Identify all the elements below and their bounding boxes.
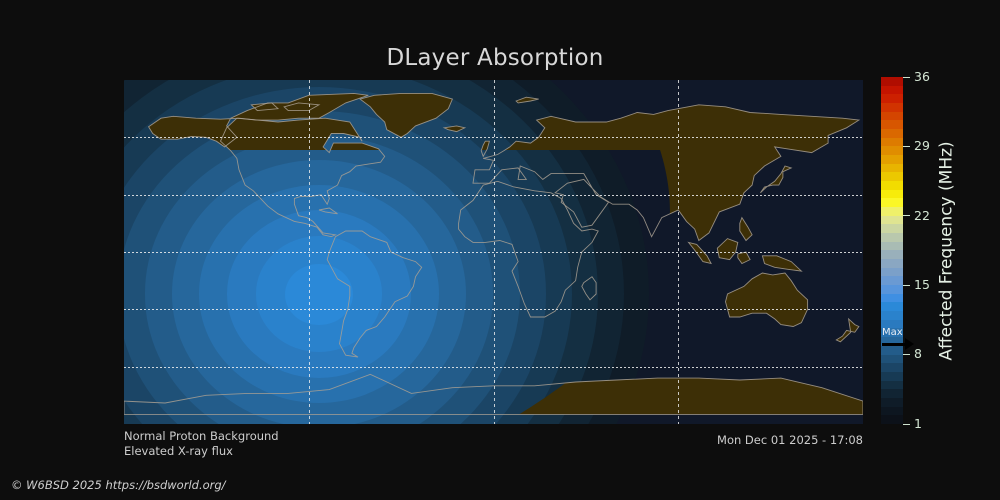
colorbar-band bbox=[881, 77, 903, 86]
colorbar-axis-title: Affected Frequency (MHz) bbox=[935, 77, 959, 424]
colorbar-band bbox=[881, 276, 903, 285]
colorbar-band bbox=[881, 407, 903, 416]
colorbar-band bbox=[881, 224, 903, 233]
colorbar[interactable] bbox=[881, 77, 903, 424]
colorbar-band bbox=[881, 103, 903, 112]
page-title: DLayer Absorption bbox=[0, 45, 990, 71]
gridline-latitude bbox=[124, 309, 863, 310]
colorbar-band bbox=[881, 250, 903, 259]
footer-credit-text: W6BSD 2025 https://bsdworld.org/ bbox=[26, 478, 225, 492]
gridline-latitude bbox=[124, 137, 863, 138]
colorbar-band bbox=[881, 120, 903, 129]
gridline-layer bbox=[124, 80, 863, 424]
colorbar-band bbox=[881, 259, 903, 268]
colorbar-band bbox=[881, 311, 903, 320]
colorbar-tick-dash bbox=[903, 146, 910, 147]
colorbar-band bbox=[881, 268, 903, 277]
colorbar-band bbox=[881, 198, 903, 207]
colorbar-axis-title-text: Affected Frequency (MHz) bbox=[937, 141, 957, 360]
colorbar-band bbox=[881, 294, 903, 303]
colorbar-tick-label: 8 bbox=[914, 348, 922, 361]
colorbar-band bbox=[881, 86, 903, 95]
colorbar-band bbox=[881, 233, 903, 242]
gridline-longitude bbox=[494, 80, 495, 424]
colorbar-band bbox=[881, 146, 903, 155]
colorbar-tick-label: 15 bbox=[914, 279, 930, 292]
colorbar-tick-dash bbox=[903, 215, 910, 216]
colorbar-band bbox=[881, 398, 903, 407]
world-absorption-map[interactable] bbox=[124, 80, 863, 424]
colorbar-band bbox=[881, 320, 903, 329]
colorbar-band bbox=[881, 285, 903, 294]
colorbar-tick-dash bbox=[903, 424, 910, 425]
colorbar-band bbox=[881, 415, 903, 424]
colorbar-band bbox=[881, 328, 903, 337]
colorbar-tick-label: 29 bbox=[914, 140, 930, 153]
colorbar-band bbox=[881, 172, 903, 181]
colorbar-band bbox=[881, 207, 903, 216]
colorbar-band bbox=[881, 138, 903, 147]
colorbar-band bbox=[881, 389, 903, 398]
colorbar-band bbox=[881, 302, 903, 311]
colorbar-tick-dash bbox=[903, 285, 910, 286]
gridline-latitude bbox=[124, 367, 863, 368]
colorbar-tick-label: 36 bbox=[914, 71, 930, 84]
colorbar-band bbox=[881, 242, 903, 251]
colorbar-band bbox=[881, 190, 903, 199]
colorbar-tick-dash bbox=[903, 354, 910, 355]
colorbar-band bbox=[881, 355, 903, 364]
colorbar-band bbox=[881, 164, 903, 173]
colorbar-band bbox=[881, 346, 903, 355]
gridline-longitude bbox=[309, 80, 310, 424]
colorbar-band bbox=[881, 155, 903, 164]
status-xray-flux: Elevated X-ray flux bbox=[124, 444, 279, 459]
status-proton-background: Normal Proton Background bbox=[124, 429, 279, 444]
colorbar-band bbox=[881, 181, 903, 190]
colorbar-band bbox=[881, 381, 903, 390]
colorbar-band bbox=[881, 94, 903, 103]
colorbar-gradient bbox=[881, 77, 903, 424]
gridline-latitude bbox=[124, 195, 863, 196]
gridline-latitude bbox=[124, 252, 863, 253]
colorbar-band bbox=[881, 129, 903, 138]
colorbar-band bbox=[881, 112, 903, 121]
timestamp: Mon Dec 01 2025 - 17:08 bbox=[717, 433, 863, 447]
gridline-longitude bbox=[678, 80, 679, 424]
colorbar-tick-dash bbox=[903, 77, 910, 78]
status-block: Normal Proton Background Elevated X-ray … bbox=[124, 429, 279, 459]
colorbar-band bbox=[881, 337, 903, 346]
colorbar-tick-label: 22 bbox=[914, 210, 930, 223]
footer-credit: © W6BSD 2025 https://bsdworld.org/ bbox=[11, 478, 226, 492]
copyright-icon: © bbox=[11, 478, 23, 492]
colorbar-tick-label: 1 bbox=[914, 418, 922, 431]
colorbar-band bbox=[881, 363, 903, 372]
app-root: DLayer Absorption bbox=[0, 0, 1000, 500]
colorbar-band bbox=[881, 372, 903, 381]
colorbar-band bbox=[881, 216, 903, 225]
